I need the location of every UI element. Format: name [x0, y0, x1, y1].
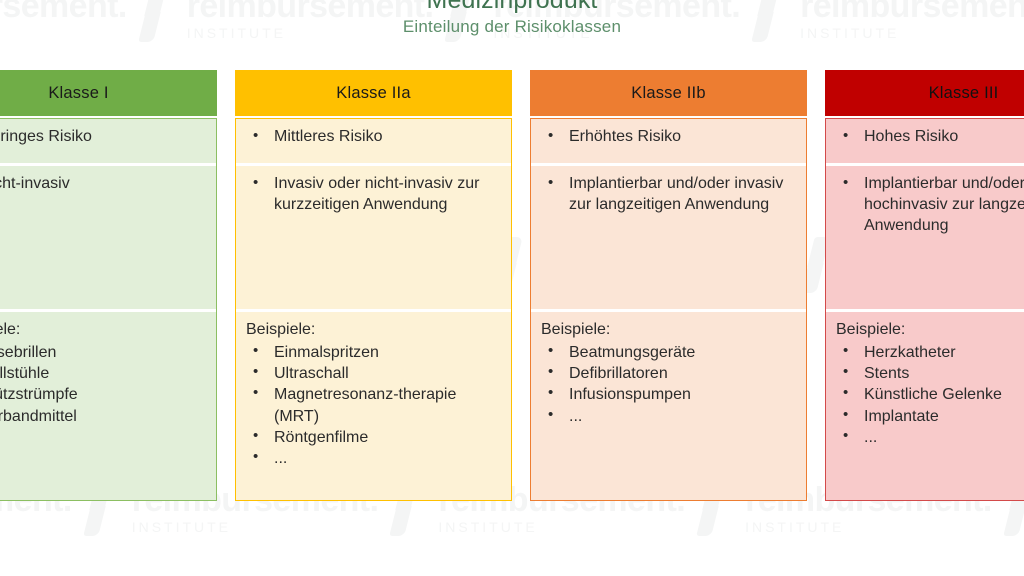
- list-item: Implantate: [834, 406, 1024, 427]
- description-list: Implantierbar und/oder hochinvasiv zur l…: [834, 174, 1024, 236]
- risk-cell: Geringes Risiko: [0, 119, 216, 163]
- watermark-sub: INSTITUTE: [438, 520, 685, 534]
- risk-list: Hohes Risiko: [834, 127, 1024, 148]
- examples-cell: Beispiele: Herzkatheter Stents Künstlich…: [826, 309, 1024, 500]
- description-list: Nicht-invasiv: [0, 174, 206, 195]
- watermark-sub: INSTITUTE: [0, 520, 72, 534]
- examples-list: Einmalspritzen Ultraschall Magnetresonan…: [244, 342, 501, 470]
- list-item: Künstliche Gelenke: [834, 384, 1024, 405]
- description-item: Invasiv oder nicht-invasiv zur kurzzeiti…: [244, 174, 501, 216]
- description-cell: Implantierbar und/oder hochinvasiv zur l…: [826, 163, 1024, 309]
- description-cell: Implantierbar und/oder invasiv zur langz…: [531, 163, 806, 309]
- list-item: Defibrillatoren: [539, 363, 796, 384]
- risk-class-column-klasse-iib: Klasse IIb Erhöhtes Risiko Implantierbar…: [530, 70, 807, 501]
- list-item: Stents: [834, 363, 1024, 384]
- description-cell: Invasiv oder nicht-invasiv zur kurzzeiti…: [236, 163, 511, 309]
- list-item: ...: [834, 427, 1024, 448]
- column-body-klasse-i: Geringes Risiko Nicht-invasiv Beispiele:…: [0, 118, 217, 501]
- examples-label: Beispiele:: [244, 320, 501, 341]
- description-cell: Nicht-invasiv: [0, 163, 216, 309]
- description-item: Implantierbar und/oder invasiv zur langz…: [539, 174, 796, 216]
- slide-canvas: reimbursement.INSTITUTEreimbursement.INS…: [0, 0, 1024, 576]
- column-header-klasse-i: Klasse I: [0, 70, 217, 116]
- risk-class-column-klasse-iii: Klasse III Hohes Risiko Implantierbar un…: [825, 70, 1024, 501]
- examples-list: Lesebrillen Rollstühle Stützstrümpfe Ver…: [0, 342, 206, 427]
- watermark-sub: INSTITUTE: [745, 520, 992, 534]
- list-item: Ultraschall: [244, 363, 501, 384]
- examples-list: Beatmungsgeräte Defibrillatoren Infusion…: [539, 342, 796, 427]
- column-body-klasse-iii: Hohes Risiko Implantierbar und/oder hoch…: [825, 118, 1024, 501]
- page-subtitle: Einteilung der Risikoklassen: [0, 17, 1024, 37]
- description-list: Implantierbar und/oder invasiv zur langz…: [539, 174, 796, 216]
- risk-cell: Mittleres Risiko: [236, 119, 511, 163]
- examples-label: Beispiele:: [834, 320, 1024, 341]
- column-header-klasse-iia: Klasse IIa: [235, 70, 512, 116]
- risk-list: Erhöhtes Risiko: [539, 127, 796, 148]
- risk-cell: Hohes Risiko: [826, 119, 1024, 163]
- watermark-sub: INSTITUTE: [132, 520, 379, 534]
- column-header-label: Klasse I: [48, 84, 108, 103]
- column-header-label: Klasse IIb: [631, 84, 705, 103]
- list-item: Magnetresonanz-therapie (MRT): [244, 384, 501, 427]
- examples-cell: Beispiele: Beatmungsgeräte Defibrillator…: [531, 309, 806, 500]
- list-item: ...: [539, 406, 796, 427]
- list-item: Röntgenfilme: [244, 427, 501, 448]
- risk-item: Erhöhtes Risiko: [539, 127, 796, 148]
- list-item: Verbandmittel: [0, 406, 206, 427]
- list-item: ...: [244, 448, 501, 469]
- column-header-klasse-iib: Klasse IIb: [530, 70, 807, 116]
- risk-item: Mittleres Risiko: [244, 127, 501, 148]
- risk-class-column-klasse-i: Klasse I Geringes Risiko Nicht-invasiv B…: [0, 70, 217, 501]
- examples-label: Beispiele:: [539, 320, 796, 341]
- risk-class-table: Klasse I Geringes Risiko Nicht-invasiv B…: [0, 70, 1024, 501]
- list-item: Rollstühle: [0, 363, 206, 384]
- risk-item: Hohes Risiko: [834, 127, 1024, 148]
- column-header-label: Klasse IIa: [336, 84, 410, 103]
- list-item: Stützstrümpfe: [0, 384, 206, 405]
- column-body-klasse-iia: Mittleres Risiko Invasiv oder nicht-inva…: [235, 118, 512, 501]
- risk-cell: Erhöhtes Risiko: [531, 119, 806, 163]
- risk-list: Geringes Risiko: [0, 127, 206, 148]
- description-item: Nicht-invasiv: [0, 174, 206, 195]
- list-item: Lesebrillen: [0, 342, 206, 363]
- risk-list: Mittleres Risiko: [244, 127, 501, 148]
- page-title: Medizinprodukt: [0, 0, 1024, 14]
- list-item: Beatmungsgeräte: [539, 342, 796, 363]
- column-header-klasse-iii: Klasse III: [825, 70, 1024, 116]
- list-item: Herzkatheter: [834, 342, 1024, 363]
- examples-label: Beispiele:: [0, 320, 206, 341]
- list-item: Einmalspritzen: [244, 342, 501, 363]
- description-list: Invasiv oder nicht-invasiv zur kurzzeiti…: [244, 174, 501, 216]
- list-item: Infusionspumpen: [539, 384, 796, 405]
- column-body-klasse-iib: Erhöhtes Risiko Implantierbar und/oder i…: [530, 118, 807, 501]
- description-item: Implantierbar und/oder hochinvasiv zur l…: [834, 174, 1024, 236]
- risk-class-column-klasse-iia: Klasse IIa Mittleres Risiko Invasiv oder…: [235, 70, 512, 501]
- column-header-label: Klasse III: [929, 84, 999, 103]
- risk-item: Geringes Risiko: [0, 127, 206, 148]
- title-block: Medizinprodukt Einteilung der Risikoklas…: [0, 0, 1024, 37]
- examples-cell: Beispiele: Einmalspritzen Ultraschall Ma…: [236, 309, 511, 500]
- examples-list: Herzkatheter Stents Künstliche Gelenke I…: [834, 342, 1024, 448]
- examples-cell: Beispiele: Lesebrillen Rollstühle Stützs…: [0, 309, 216, 500]
